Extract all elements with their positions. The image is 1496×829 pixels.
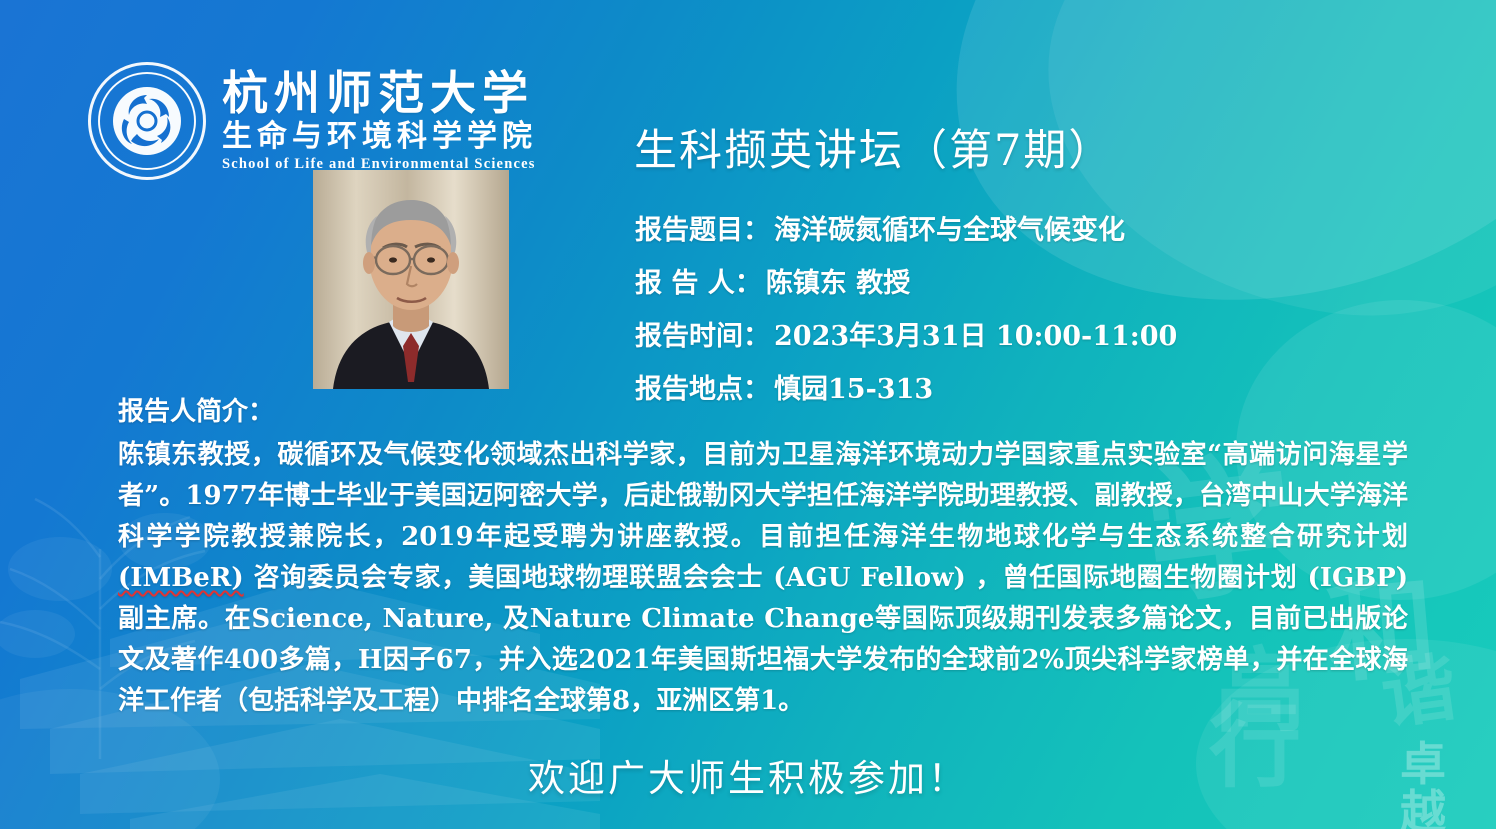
detail-row-topic: 报告题目： 海洋碳氮循环与全球气候变化 xyxy=(635,208,1177,247)
detail-label: 报 告 人： xyxy=(635,261,762,300)
detail-row-time: 报告时间： 2023年3月31日 10:00-11:00 xyxy=(635,314,1177,353)
lecture-poster: 学 和 谐 高 行 卓越 杭州师范大学 xyxy=(0,0,1496,829)
biography-part-two: 咨询委员会专家，美国地球物理联盟会会士 (AGU Fellow) ，曾任国际地圈… xyxy=(118,563,1408,716)
detail-value: 陈镇东 教授 xyxy=(766,261,910,300)
school-name: 生命与环境科学学院 xyxy=(222,122,537,152)
biography-part-one: 陈镇东教授，碳循环及气候变化领域杰出科学家，目前为卫星海洋环境动力学国家重点实验… xyxy=(118,440,1408,552)
detail-label: 报告时间： xyxy=(635,314,770,353)
school-emblem-icon xyxy=(88,62,206,180)
emblem-swirl-icon xyxy=(91,65,203,177)
call-to-action: 欢迎广大师生积极参加！ xyxy=(0,748,1496,802)
detail-row-speaker: 报 告 人： 陈镇东 教授 xyxy=(635,261,1177,300)
university-name: 杭州师范大学 xyxy=(222,70,537,116)
biography-body: 陈镇东教授，碳循环及气候变化领域杰出科学家，目前为卫星海洋环境动力学国家重点实验… xyxy=(118,435,1408,722)
speaker-portrait xyxy=(313,170,509,389)
biography-heading: 报告人简介： xyxy=(118,392,1408,433)
poster-title: 生科撷英讲坛（第7期） xyxy=(634,116,1113,178)
portrait-image xyxy=(313,170,509,389)
detail-value: 2023年3月31日 10:00-11:00 xyxy=(774,314,1177,353)
speaker-biography: 报告人简介： 陈镇东教授，碳循环及气候变化领域杰出科学家，目前为卫星海洋环境动力… xyxy=(118,392,1408,722)
detail-value: 海洋碳氮循环与全球气候变化 xyxy=(774,208,1125,247)
detail-label: 报告题目： xyxy=(635,208,770,247)
lecture-details: 报告题目： 海洋碳氮循环与全球气候变化 报 告 人： 陈镇东 教授 报告时间： … xyxy=(635,208,1177,420)
school-branding: 杭州师范大学 生命与环境科学学院 School of Life and Envi… xyxy=(88,62,537,180)
spellcheck-flagged-text: (IMBeR) xyxy=(118,563,244,593)
